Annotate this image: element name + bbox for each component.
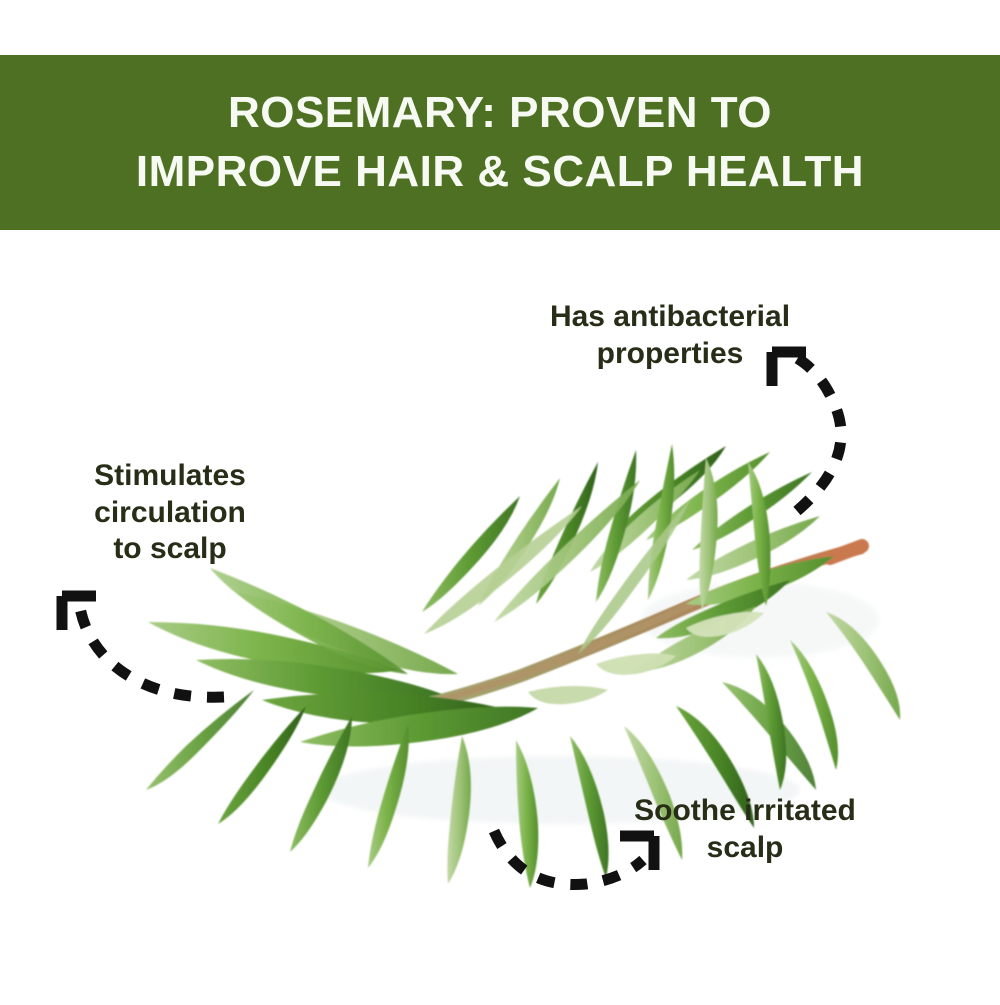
callout-antibacterial-line-1: Has antibacterial xyxy=(490,299,850,336)
callout-circulation-line-1: Stimulates xyxy=(45,458,295,495)
callout-soothe: Soothe irritated scalp xyxy=(580,793,910,866)
callout-soothe-line-2: scalp xyxy=(580,830,910,867)
callout-circulation-line-2: circulation xyxy=(45,495,295,532)
callout-antibacterial: Has antibacterial properties xyxy=(490,299,850,372)
callout-soothe-line-1: Soothe irritated xyxy=(580,793,910,830)
callout-circulation: Stimulates circulation to scalp xyxy=(45,458,295,568)
callout-antibacterial-line-2: properties xyxy=(490,336,850,373)
infographic-root: ROSEMARY: PROVEN TO IMPROVE HAIR & SCALP… xyxy=(0,0,1000,1000)
callout-circulation-line-3: to scalp xyxy=(45,531,295,568)
